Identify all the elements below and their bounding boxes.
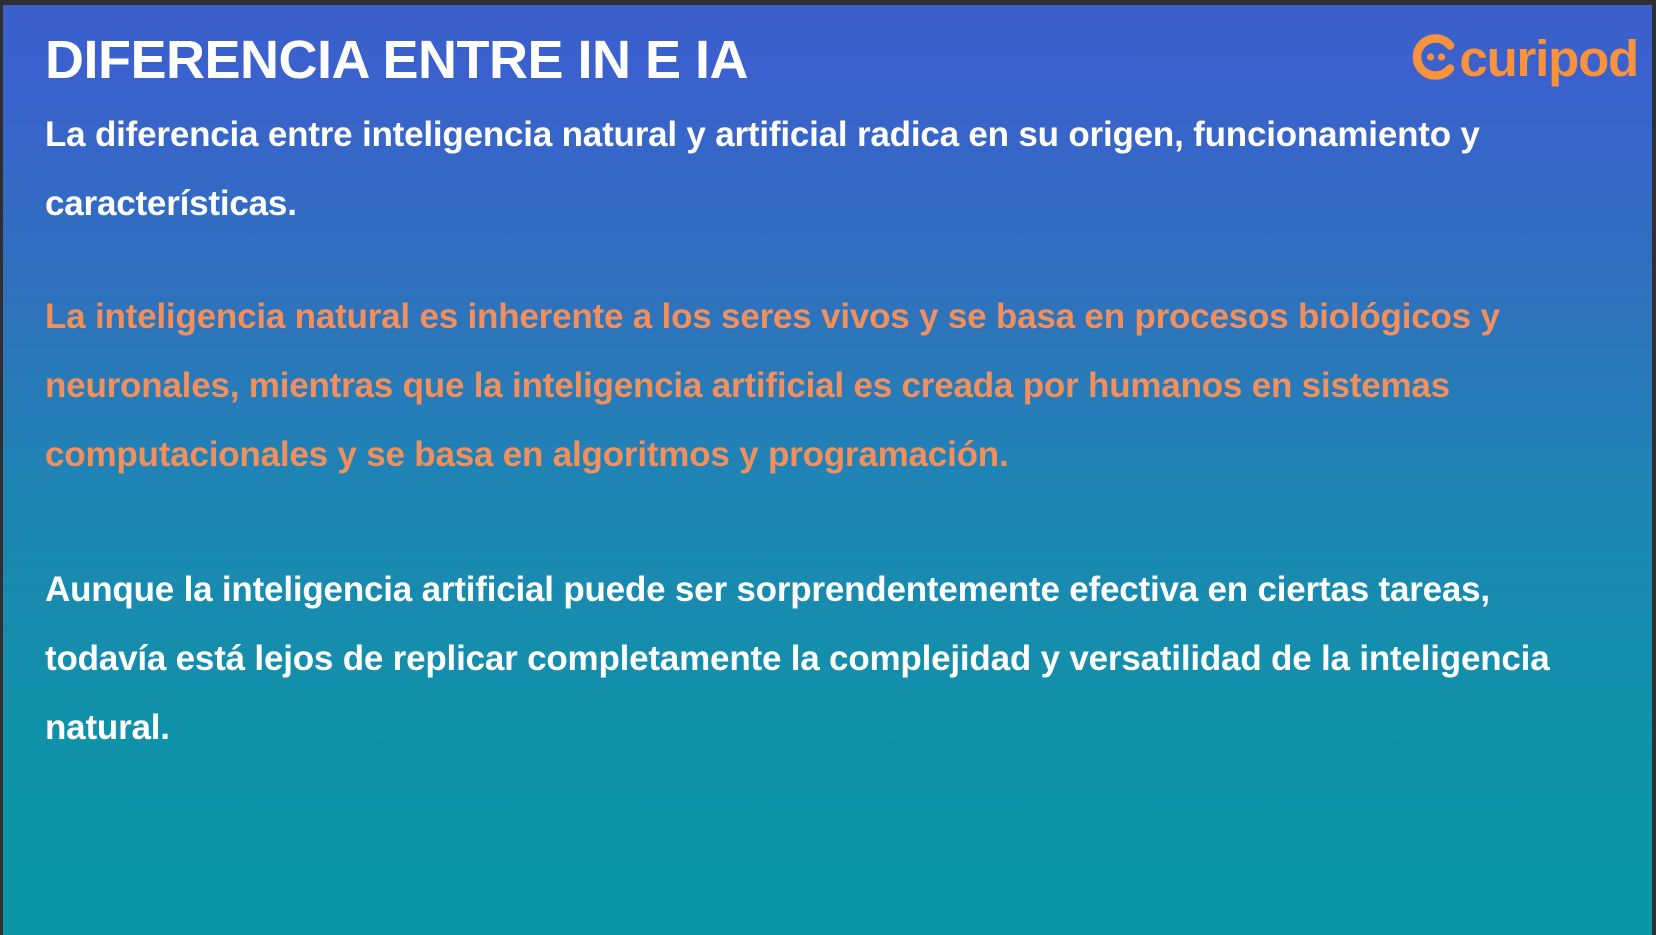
presentation-slide: curipod DIFERENCIA ENTRE IN E IA La dife… xyxy=(3,5,1652,935)
page-title: DIFERENCIA ENTRE IN E IA xyxy=(45,31,1612,89)
paragraph-natural-vs-artificial: La inteligencia natural es inherente a l… xyxy=(45,283,1612,490)
paragraph-conclusion: Aunque la inteligencia artificial puede … xyxy=(45,556,1612,763)
paragraph-intro: La diferencia entre inteligencia natural… xyxy=(45,101,1612,239)
slide-content: DIFERENCIA ENTRE IN E IA La diferencia e… xyxy=(45,31,1612,763)
paragraph-spacer xyxy=(45,239,1612,283)
paragraph-spacer xyxy=(45,490,1612,556)
slide-frame: curipod DIFERENCIA ENTRE IN E IA La dife… xyxy=(0,0,1656,935)
